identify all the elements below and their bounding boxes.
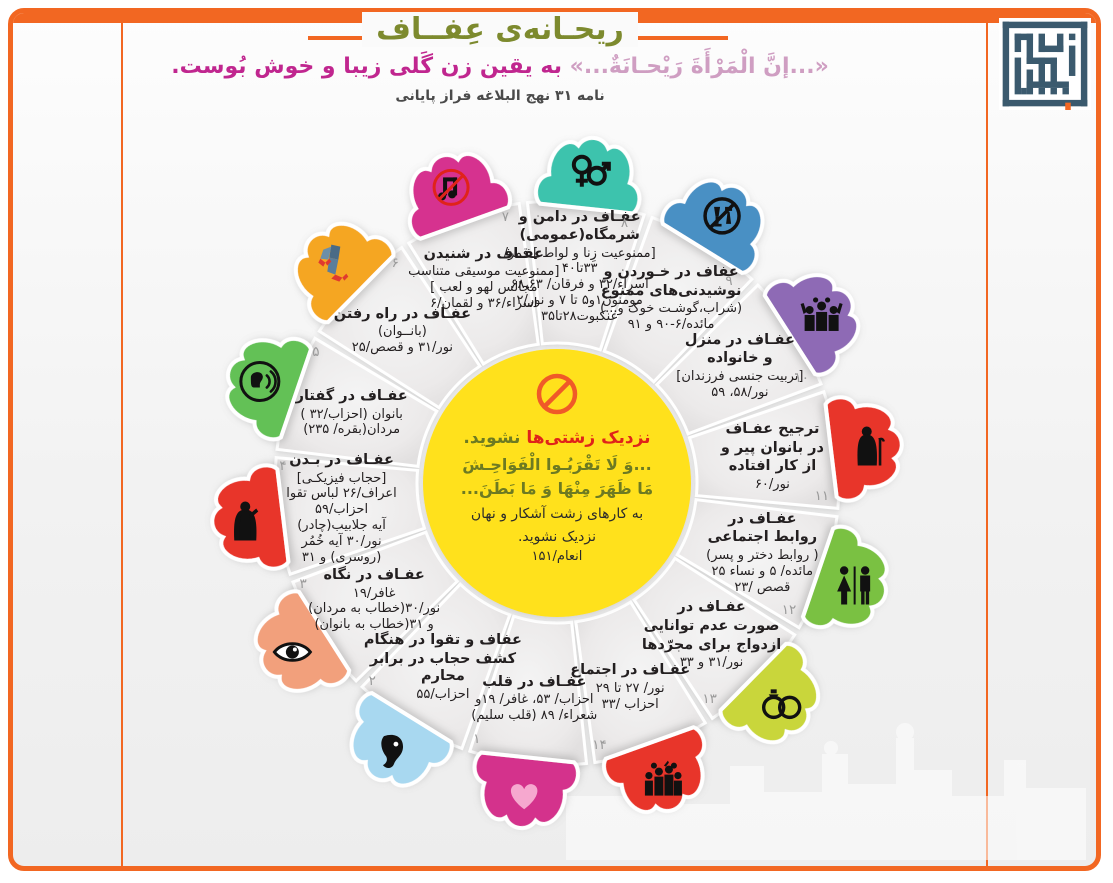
- wheel-segment-number-5: ۵: [312, 344, 319, 360]
- wheel-segment-number-2: ۲: [369, 673, 376, 689]
- wheel-segment-number-13: ۱۳: [702, 691, 717, 707]
- wheel-segment-number-3: ۳: [300, 576, 307, 592]
- subtitle-arabic: «...إنَّ الْمَرْأَةَ رَيْحـانَةٌ...»: [570, 54, 829, 79]
- wheel-segment-number-9: ۹: [725, 273, 732, 289]
- subtitle-persian: به یقین زن گَلی زیبا و خوش بُوست.: [171, 54, 562, 79]
- wheel-segment-number-8: ۸: [621, 215, 628, 231]
- prohibition-sign-icon: [533, 370, 581, 418]
- eye-icon: [274, 644, 310, 661]
- wheel-segment-number-6: ۶: [392, 255, 399, 271]
- wheel-segment-number-14: ۱۴: [592, 737, 607, 753]
- wheel-segment-number-4: ۴: [279, 458, 286, 474]
- source-citation: نامه ۳۱ نهج البلاغه فراز پایانی: [0, 88, 1000, 104]
- wheel-segment-number-7: ۷: [502, 209, 509, 225]
- wheel-segment-number-10: ۱۰: [794, 370, 809, 386]
- subtitle: «...إنَّ الْمَرْأَةَ رَيْحـانَةٌ...» به …: [0, 54, 1000, 79]
- wheel-segment-number-11: ۱۱: [815, 488, 830, 504]
- wheel-segment-number-12: ۱۲: [782, 602, 797, 618]
- frame-inner-line-right: [121, 13, 123, 871]
- kufic-square-calligraphy-logo: [999, 18, 1091, 110]
- wheel-segment-number-1: ۱: [473, 731, 480, 747]
- page-title: ریحـانه‌ی عِفــاف: [0, 12, 1000, 47]
- chastity-wheel: نزدیک زشتی‌ها نشوید. ...وَ لَا تَقْرَبُـ…: [152, 108, 962, 868]
- page-title-text: ریحـانه‌ی عِفــاف: [362, 12, 638, 47]
- poster-header: ریحـانه‌ی عِفــاف «...إنَّ الْمَرْأَةَ ر…: [0, 0, 1113, 118]
